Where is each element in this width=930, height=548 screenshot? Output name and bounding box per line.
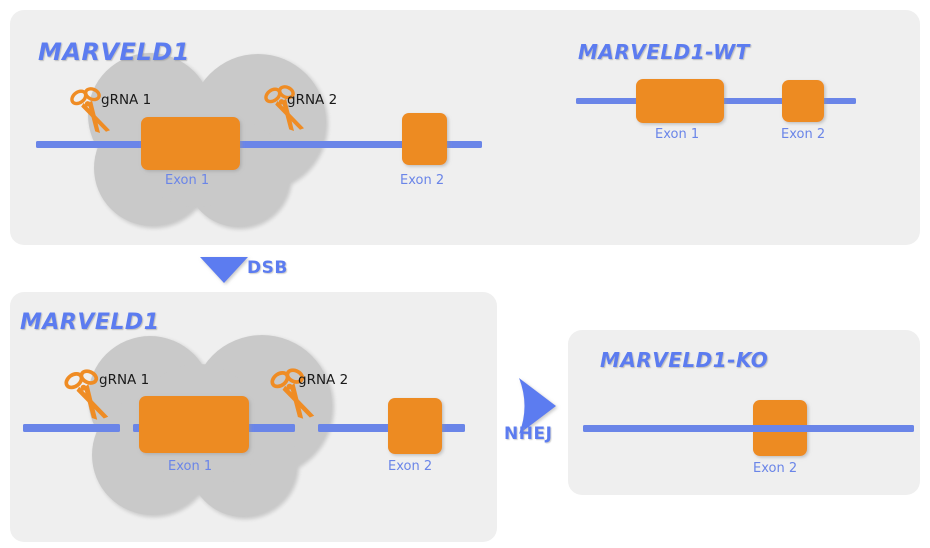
grna1-label-top: gRNA 1 [101,92,151,108]
panel-title-targeting: MARVELD1 [38,38,190,66]
panel-title-cleaved: MARVELD1 [20,310,160,335]
figure-canvas: MARVELD1 MARVELD1-WT MARVELD1 MARVELD1-K… [0,0,930,548]
panel-title-knockout: MARVELD1-KO [600,348,768,372]
exon1-label-wildtype: Exon 1 [655,127,699,142]
grna1-label-bottom: gRNA 1 [99,372,149,388]
dsb-arrow-icon [200,257,248,283]
exon1-label-cleaved: Exon 1 [168,459,212,474]
nhej-step-label: NHEJ [504,424,552,444]
panel-title-wildtype: MARVELD1-WT [578,40,750,64]
dsb-step-label: DSB [247,258,288,278]
exon2-label-knockout: Exon 2 [753,461,797,476]
exon2-label-wildtype: Exon 2 [781,127,825,142]
grna2-label-bottom: gRNA 2 [298,372,348,388]
exon2-label-cleaved: Exon 2 [388,459,432,474]
exon2-label-top: Exon 2 [400,173,444,188]
grna2-label-top: gRNA 2 [287,92,337,108]
exon1-label-top: Exon 1 [165,173,209,188]
